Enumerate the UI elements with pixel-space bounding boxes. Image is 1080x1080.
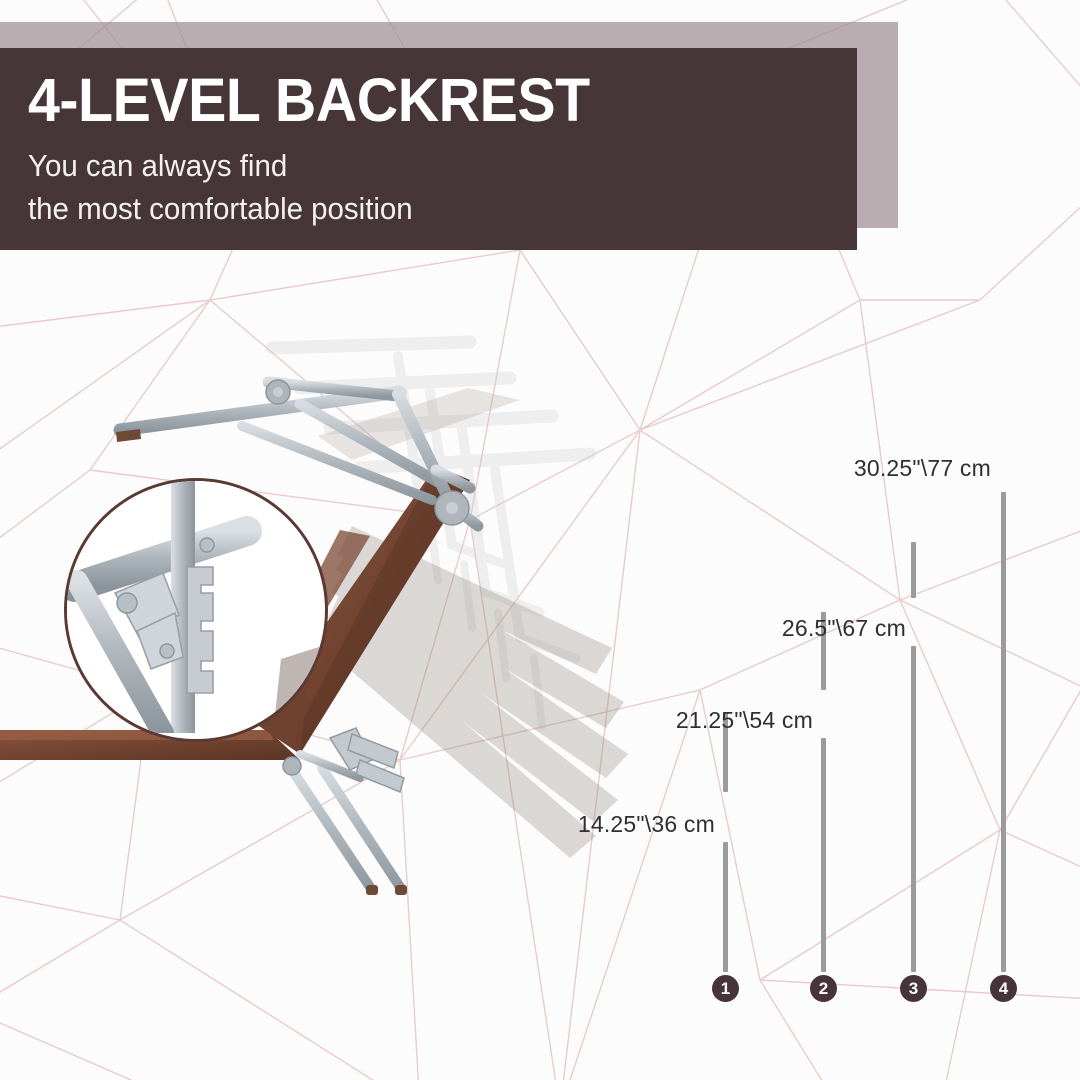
header-subtitle-line-1: You can always find	[28, 144, 816, 187]
header-subtitle: You can always find the most comfortable…	[28, 144, 816, 230]
measure-label-1: 14.25"\36 cm	[535, 811, 715, 837]
measure-label-2: 21.25"\54 cm	[633, 707, 813, 733]
measure-badge-2: 2	[810, 975, 837, 1002]
header-banner: 4-LEVEL BACKREST You can always find the…	[0, 48, 857, 250]
measure-line-3	[911, 542, 916, 598]
measure-badge-3: 3	[900, 975, 927, 1002]
measure-line-4	[1001, 492, 1006, 972]
measure-badge-4: 4	[990, 975, 1017, 1002]
header-subtitle-line-2: the most comfortable position	[28, 187, 816, 230]
measure-label-3: 26.5"\67 cm	[728, 615, 906, 641]
measurements-group: 14.25"\36 cm 1 21.25"\54 cm 2 26.5"\67 c…	[600, 440, 1080, 1020]
detail-callout-circle	[64, 478, 328, 742]
measure-line-1-lower	[723, 842, 728, 972]
measure-badge-1: 1	[712, 975, 739, 1002]
infographic-canvas: 4-LEVEL BACKREST You can always find the…	[0, 0, 1080, 1080]
measure-label-4: 30.25"\77 cm	[813, 455, 991, 481]
measure-line-2-lower	[821, 738, 826, 972]
page-title: 4-LEVEL BACKREST	[28, 64, 807, 136]
measure-line-3-lower	[911, 646, 916, 972]
